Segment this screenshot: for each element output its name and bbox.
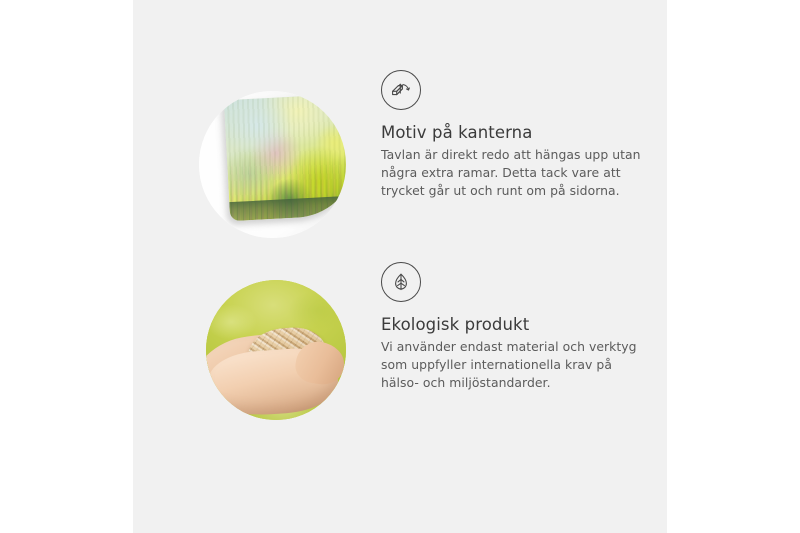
wood-chips-in-hands-photo <box>206 280 346 420</box>
canvas-wrapped-edge-glyph <box>389 78 413 102</box>
feature-heading: Ekologisk produkt <box>381 315 663 335</box>
canvas-wrapped-edge-icon <box>381 70 421 110</box>
leaf-glyph <box>389 270 413 294</box>
feature-content-canvas-edges: Motiv på kanterna Tavlan är direkt redo … <box>381 70 663 200</box>
feature-content-eco-product: Ekologisk produkt Vi använder endast mat… <box>381 262 663 392</box>
product-feature-banner: Motiv på kanterna Tavlan är direkt redo … <box>0 0 800 533</box>
content-panel: Motiv på kanterna Tavlan är direkt redo … <box>133 0 667 533</box>
feature-body: Tavlan är direkt redo att hängas upp uta… <box>381 146 649 200</box>
leaf-icon <box>381 262 421 302</box>
canvas-print-block <box>224 94 346 221</box>
feature-body: Vi använder endast material och verktyg … <box>381 338 649 392</box>
canvas-print-edge-photo <box>199 91 346 238</box>
feature-heading: Motiv på kanterna <box>381 123 663 143</box>
